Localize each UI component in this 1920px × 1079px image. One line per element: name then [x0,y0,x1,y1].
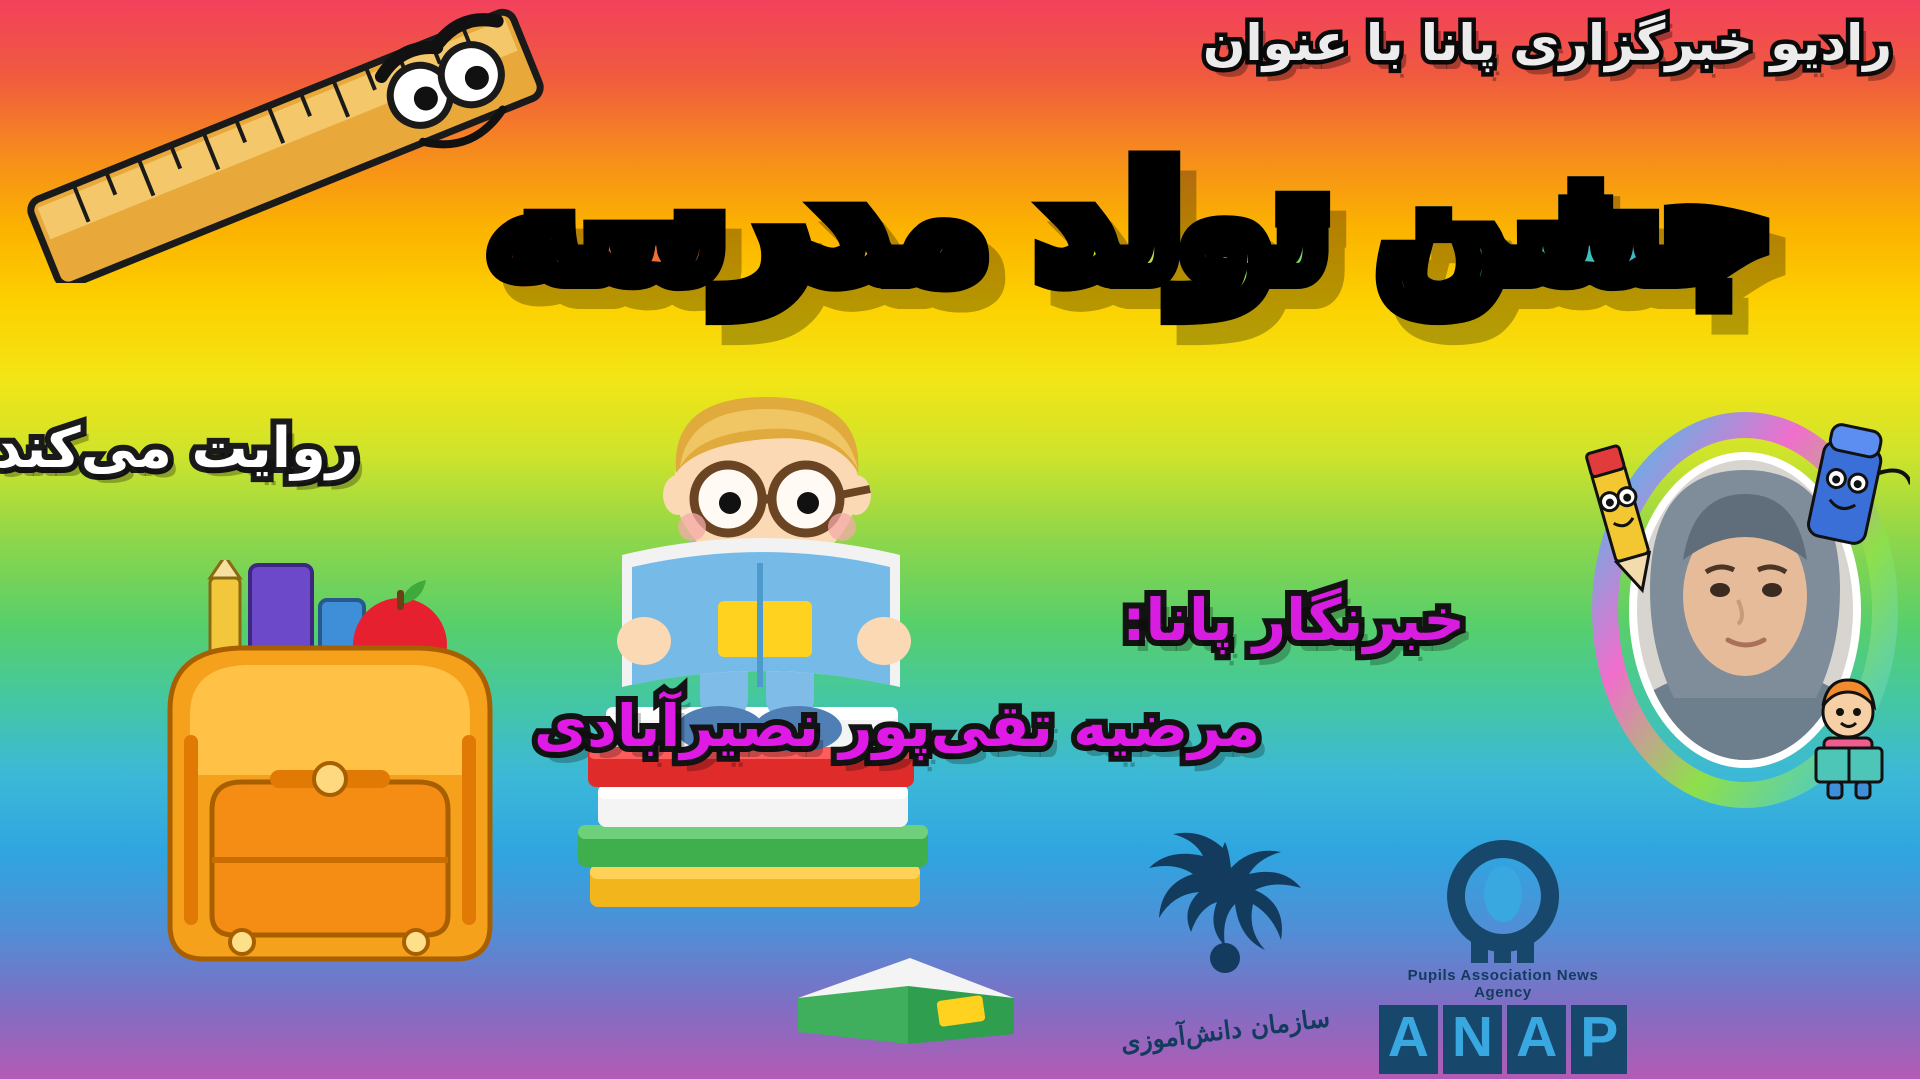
smiling-ruler-icon [14,8,554,283]
page-title: جشن تولد مدرسه [489,148,1770,303]
pana-letter-p: P [1571,1005,1627,1074]
girl-reading-character-icon [1816,680,1882,798]
reporter-label: خبرنگار پانا: [1122,586,1465,654]
pana-tagline: Pupils Association News Agency [1378,967,1628,1001]
pana-letter-n: N [1443,1005,1502,1074]
pana-eye-icon [1403,838,1603,963]
organization-logo: سازمان دانش‌آموزی [1110,830,1340,1075]
pana-letters: P A N A [1378,1005,1628,1074]
green-book-icon [790,940,1020,1070]
organization-caption: سازمان دانش‌آموزی [1119,1003,1331,1057]
pana-logo: Pupils Association News Agency P A N A خ… [1378,838,1628,1078]
poster-canvas: رادیو خبرگزاری پانا با عنوان جشن تولد مد… [0,0,1920,1079]
subtitle-text: روایت می‌کند... [0,416,358,481]
boy-reading-on-books-icon [570,395,1000,975]
tulip-ornament-icon [1110,830,1340,1010]
pana-letter-a2: A [1379,1005,1438,1074]
reporter-name: مرضیه تقی‌پور نصیرآبادی [534,692,1260,760]
pana-letter-a1: A [1507,1005,1566,1074]
reporter-portrait-photo [1580,400,1910,820]
backpack-with-supplies-icon [150,560,510,980]
kicker-text: رادیو خبرگزاری پانا با عنوان [1203,14,1892,72]
